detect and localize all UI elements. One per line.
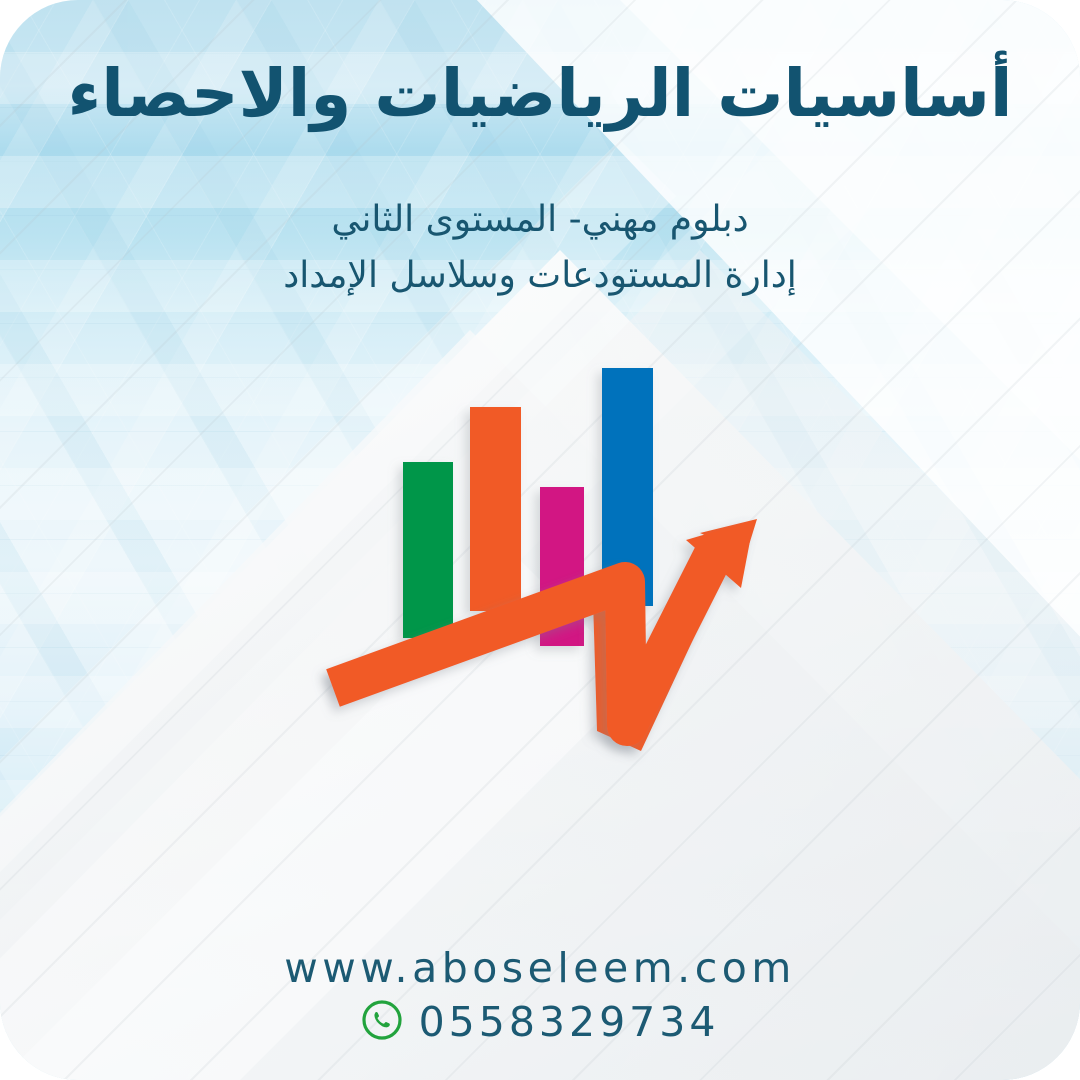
page-title: أساسيات الرياضيات والاحصاء <box>0 56 1080 132</box>
page-subtitle: دبلوم مهني- المستوى الثاني إدارة المستود… <box>0 192 1080 304</box>
phone-row: 0558329734 <box>0 998 1080 1046</box>
subtitle-line-2: إدارة المستودعات وسلاسل الإمداد <box>0 248 1080 304</box>
subtitle-line-1: دبلوم مهني- المستوى الثاني <box>0 192 1080 248</box>
poster-canvas: أساسيات الرياضيات والاحصاء دبلوم مهني- ا… <box>0 0 1080 1080</box>
phone-number[interactable]: 0558329734 <box>419 998 720 1046</box>
whatsapp-icon[interactable] <box>361 999 403 1045</box>
background-diagonal-lines <box>0 0 1080 1080</box>
footer: www.aboseleem.com 0558329734 <box>0 944 1080 1046</box>
website-url[interactable]: www.aboseleem.com <box>0 944 1080 992</box>
